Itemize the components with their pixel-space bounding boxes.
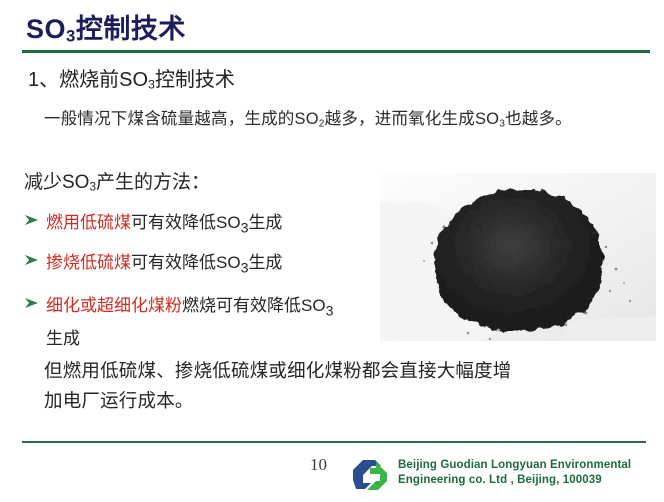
arrow-bullet-icon bbox=[24, 293, 46, 311]
list-item: 掺烧低硫煤可有效降低SO3生成 bbox=[24, 250, 374, 281]
company-logo-icon bbox=[350, 457, 390, 491]
list-item: 燃用低硫煤可有效降低SO3生成 bbox=[24, 210, 374, 241]
list-item: 细化或超细化煤粉燃烧可有效降低SO3生成 bbox=[24, 293, 374, 352]
page-number: 10 bbox=[310, 455, 327, 475]
list-item-keyword: 掺烧低硫煤 bbox=[46, 253, 131, 272]
list-item-text: 燃用低硫煤可有效降低SO3生成 bbox=[46, 210, 374, 241]
intro-paragraph: 一般情况下煤含硫量越高，生成的SO2越多，进而氧化生成SO3也越多。 bbox=[44, 107, 572, 136]
page-title-prefix: SO bbox=[26, 14, 66, 44]
list-item-text: 细化或超细化煤粉燃烧可有效降低SO3生成 bbox=[46, 293, 374, 352]
slide-canvas: SO3控制技术 1、燃烧前SO3控制技术 一般情况下煤含硫量越高，生成的SO2越… bbox=[0, 0, 664, 502]
section-heading-suffix: 控制技术 bbox=[155, 69, 235, 91]
intro-part-2: 越多，进而氧化生成SO bbox=[325, 110, 500, 128]
methods-heading-suffix: 产生的方法： bbox=[96, 172, 210, 193]
list-item-body-prefix: 可有效降低SO bbox=[131, 213, 241, 232]
list-item-body-suffix: 生成 bbox=[248, 213, 282, 232]
list-item-body-prefix: 可有效降低SO bbox=[131, 253, 241, 272]
footer-divider bbox=[22, 441, 646, 443]
company-name-line-2: Engineering co. Ltd , Beijing, 100039 bbox=[398, 473, 631, 488]
section-heading: 1、燃烧前SO3控制技术 bbox=[28, 66, 235, 99]
section-heading-prefix: 1、燃烧前SO bbox=[28, 69, 148, 91]
company-name-line-1: Beijing Guodian Longyuan Environmental bbox=[398, 458, 631, 473]
arrow-bullet-icon bbox=[24, 250, 46, 268]
list-item-keyword: 细化或超细化煤粉 bbox=[46, 296, 182, 315]
page-title: SO3控制技术 bbox=[26, 12, 186, 54]
arrow-bullet-icon bbox=[24, 210, 46, 228]
list-item-wrapped-text: 生成 bbox=[46, 326, 374, 352]
closing-line-1: 但燃用低硫煤、掺烧低硫煤或细化煤粉都会直接大幅度增 bbox=[44, 356, 644, 386]
company-name: Beijing Guodian Longyuan Environmental E… bbox=[398, 458, 631, 488]
coal-powder-photo bbox=[380, 173, 656, 341]
closing-line-2: 加电厂运行成本。 bbox=[44, 386, 644, 416]
closing-paragraph: 但燃用低硫煤、掺烧低硫煤或细化煤粉都会直接大幅度增 加电厂运行成本。 bbox=[44, 356, 644, 416]
page-title-suffix: 控制技术 bbox=[76, 14, 186, 44]
methods-heading: 减少SO3产生的方法： bbox=[24, 170, 210, 201]
list-item-body-prefix: 燃烧可有效降低SO bbox=[182, 296, 326, 315]
list-item-keyword: 燃用低硫煤 bbox=[46, 213, 131, 232]
list-item-subscript: 3 bbox=[326, 303, 334, 319]
methods-bullet-list: 燃用低硫煤可有效降低SO3生成 掺烧低硫煤可有效降低SO3生成 细化或超细化煤粉… bbox=[24, 210, 374, 361]
list-item-text: 掺烧低硫煤可有效降低SO3生成 bbox=[46, 250, 374, 281]
intro-part-3: 也越多。 bbox=[505, 110, 572, 128]
page-title-subscript: 3 bbox=[66, 27, 76, 46]
intro-part-1: 一般情况下煤含硫量越高，生成的SO bbox=[44, 110, 319, 128]
list-item-body-suffix: 生成 bbox=[248, 253, 282, 272]
title-divider bbox=[22, 50, 650, 53]
section-heading-subscript: 3 bbox=[148, 78, 155, 92]
methods-heading-prefix: 减少SO bbox=[24, 172, 89, 193]
